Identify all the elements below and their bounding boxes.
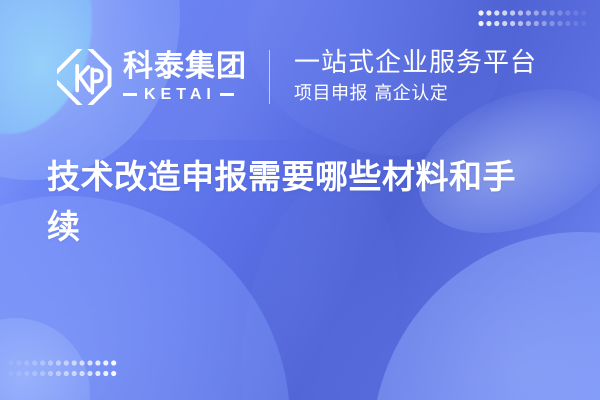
header-divider	[269, 50, 270, 104]
tagline-secondary: 项目申报 高企认定	[294, 83, 537, 105]
tagline-block: 一站式企业服务平台 项目申报 高企认定	[294, 49, 537, 104]
logo-company-name-en-row: KETAI	[123, 87, 247, 103]
tagline-primary: 一站式企业服务平台	[294, 49, 537, 79]
banner-header: 科泰集团 KETAI 一站式企业服务平台 项目申报 高企认定	[57, 40, 537, 114]
promo-banner: 科泰集团 KETAI 一站式企业服务平台 项目申报 高企认定 技术改造申报需要哪…	[0, 0, 600, 400]
dot-grid-top-right-icon	[478, 8, 594, 36]
logo-company-name-en: KETAI	[137, 87, 220, 103]
banner-headline: 技术改造申报需要哪些材料和手续	[47, 152, 547, 252]
decor-circle-bottom-right	[372, 232, 600, 400]
logo-dash-left-icon	[123, 93, 137, 96]
logo-company-name-cn: 科泰集团	[123, 52, 247, 82]
logo-dash-right-icon	[220, 93, 234, 96]
dot-grid-bottom-left-icon	[8, 358, 124, 386]
ketai-kp-diamond-logo-icon	[57, 49, 113, 105]
logo-wordmark: 科泰集团 KETAI	[123, 52, 247, 103]
